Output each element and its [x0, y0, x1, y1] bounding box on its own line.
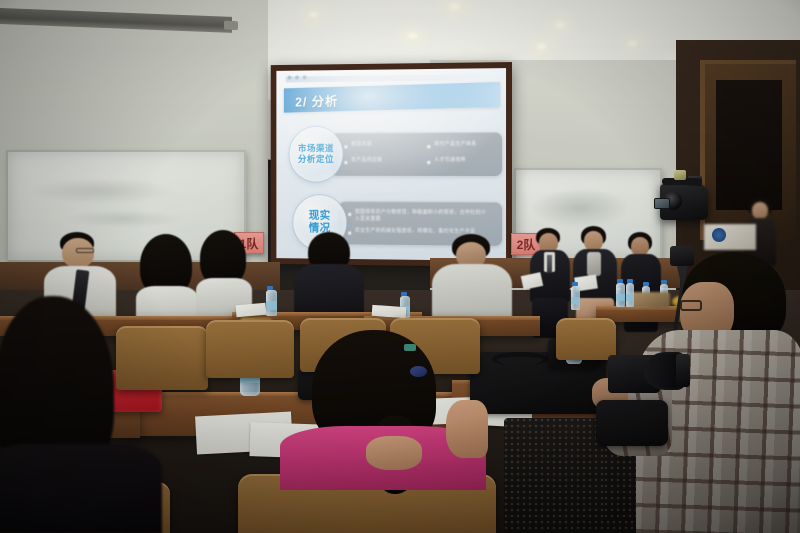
black-backpack-strap: [492, 352, 548, 366]
judge-1-tie: [547, 255, 552, 273]
audience-man-glasses-icon: [76, 248, 94, 253]
water-bottle: [571, 286, 580, 310]
hair-clip-icon: [404, 344, 416, 351]
foreground-left-body: [0, 444, 162, 533]
hair-tie-icon: [410, 366, 427, 377]
bullet-dot-icon: [427, 161, 430, 164]
wooden-chair: [556, 318, 616, 360]
slide-bullet: 农产品供应链: [344, 157, 402, 164]
bullet-dot-icon: [427, 145, 430, 148]
slide-block-one: 规范市场 现代产品生产体系 农产品供应链: [290, 124, 507, 184]
water-bottle: [616, 283, 625, 307]
judge-2-blouse: [587, 252, 601, 276]
black-bag-foreground: [596, 400, 668, 446]
slide-block-one-panel: 规范市场 现代产品生产体系 农产品供应链: [331, 132, 502, 176]
ceiling-light-5: [535, 42, 548, 51]
conference-room-photo: 2/ 分析 规范市场 现代产品生产体系: [0, 0, 800, 533]
water-bottle: [626, 283, 634, 307]
bullet-dot-icon: [344, 161, 347, 164]
judge-2-head: [584, 231, 603, 251]
pink-top-neck-skin: [366, 436, 422, 470]
camcorder-light: [674, 170, 686, 180]
ceiling-light-2: [447, 1, 462, 12]
audience-woman-foreground-left: [0, 296, 166, 533]
slide-bullet: 规范市场: [344, 141, 402, 148]
slide-bullet: 我国现有农户分散经营，种植面积小的现状，合作社的介入至关重要: [348, 209, 494, 224]
audience-woman-pink-top: [276, 330, 492, 490]
wood-door-inset: [716, 80, 782, 210]
photographer: [636, 252, 800, 533]
audience-man-head: [62, 238, 94, 268]
water-bottle: [266, 290, 277, 316]
ceiling-light-4: [553, 19, 568, 30]
slide-bubble-one-label: 市场渠道 分析定位: [298, 143, 334, 165]
slide-bullet: 现代产品生产体系: [427, 141, 494, 148]
ceiling-light-1: [307, 10, 320, 19]
slide-top-accent: [286, 74, 479, 82]
ceiling-light-6: [626, 39, 639, 48]
camcorder-lcd-screen: [654, 198, 670, 209]
photographer-glasses-icon: [680, 300, 702, 311]
documents: [372, 305, 407, 318]
bullet-dot-icon: [348, 213, 351, 216]
pink-top-arm: [446, 400, 488, 458]
wall-sign-right-emblem: [712, 228, 726, 242]
ceiling-light-3: [406, 31, 419, 40]
dslr-camera-hood: [676, 354, 690, 387]
slide-bubble-one: 市场渠道 分析定位: [290, 127, 343, 182]
person-by-door-head: [752, 202, 768, 219]
bullet-dot-icon: [344, 145, 347, 148]
slide-bullet: 人才引进培养: [427, 157, 494, 164]
